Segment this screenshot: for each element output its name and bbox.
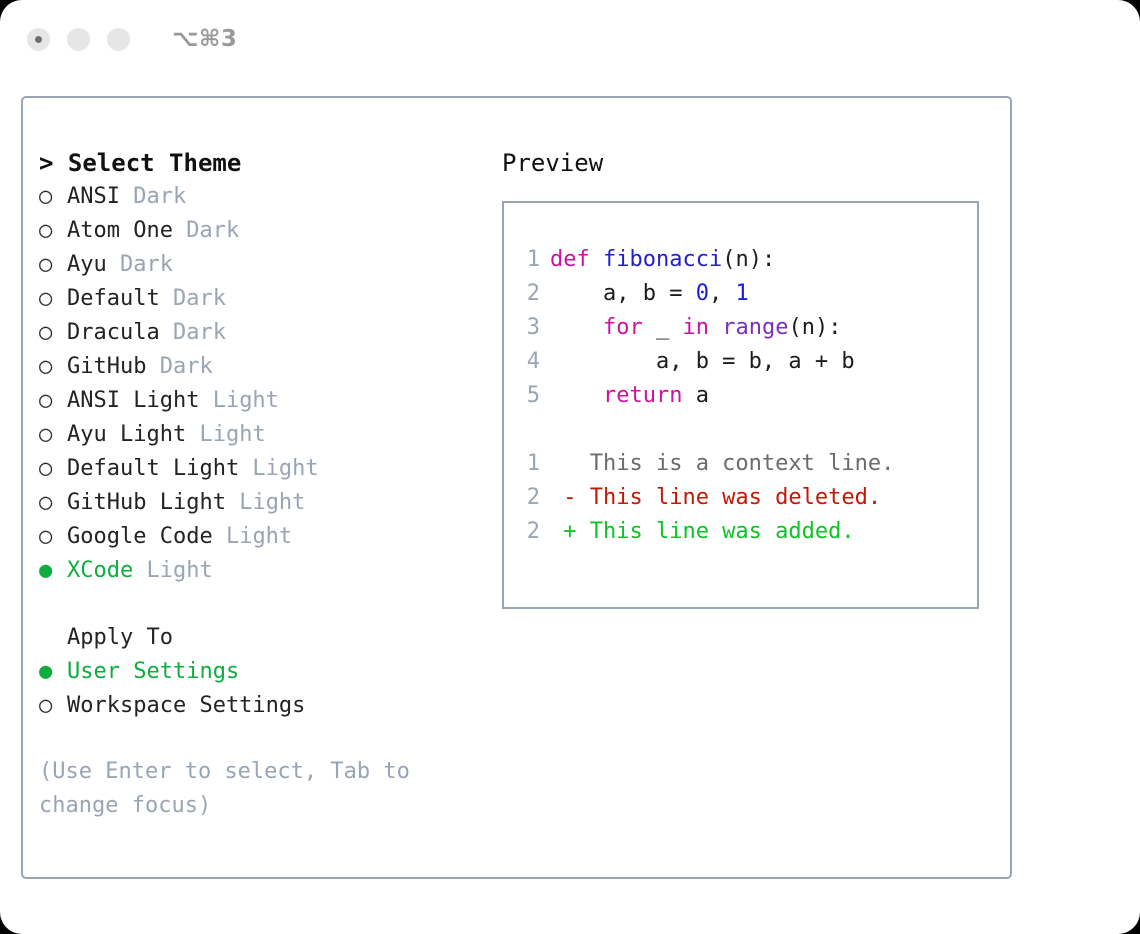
code-token-call: range: [722, 315, 788, 340]
theme-option-variant: Light: [133, 554, 212, 588]
theme-option-variant: Dark: [146, 350, 212, 384]
code-token-kw: for: [603, 315, 643, 340]
theme-option-default[interactable]: ○Default Dark: [39, 282, 469, 316]
app-window: ⌥⌘3 > Select Theme ○ANSI Dark○Atom One D…: [0, 0, 1140, 934]
theme-option-github[interactable]: ○GitHub Dark: [39, 350, 469, 384]
apply-to-option-user-settings[interactable]: ●User Settings: [39, 655, 469, 689]
code-token-plain: _: [643, 315, 683, 340]
diff-line-number: 1: [518, 447, 540, 481]
radio-unselected-icon: ○: [39, 316, 67, 350]
radio-unselected-icon: ○: [39, 689, 67, 723]
diff-line-ctx: 1 This is a context line.: [504, 447, 977, 481]
code-token-plain: a, b =: [550, 281, 696, 306]
theme-option-list: ○ANSI Dark○Atom One Dark○Ayu Dark○Defaul…: [39, 180, 469, 588]
diff-line-del: 2 - This line was deleted.: [504, 481, 977, 515]
traffic-light-second[interactable]: [67, 28, 90, 51]
code-line: 5 return a: [504, 379, 977, 413]
theme-option-atom-one[interactable]: ○Atom One Dark: [39, 214, 469, 248]
diff-line-text: This is a context line.: [550, 451, 894, 476]
apply-to-option-label: User Settings: [67, 655, 239, 689]
radio-unselected-icon: ○: [39, 180, 67, 214]
theme-option-xcode[interactable]: ●XCode Light: [39, 554, 469, 588]
diff-line-number: 2: [518, 515, 540, 549]
theme-option-variant: Light: [239, 452, 318, 486]
theme-option-ayu[interactable]: ○Ayu Dark: [39, 248, 469, 282]
radio-selected-icon: ●: [39, 554, 67, 588]
theme-option-variant: Light: [186, 418, 265, 452]
radio-unselected-icon: ○: [39, 282, 67, 316]
code-token-kw: def: [550, 247, 603, 272]
keyboard-shortcut-label: ⌥⌘3: [172, 26, 237, 52]
theme-option-label: Dracula: [67, 316, 160, 350]
preview-column: Preview 1def fibonacci(n):2 a, b = 0, 13…: [502, 146, 992, 609]
code-token-fn: fibonacci: [603, 247, 722, 272]
code-token-kw: return: [603, 383, 682, 408]
traffic-light-group: [27, 28, 130, 51]
theme-option-default-light[interactable]: ○Default Light Light: [39, 452, 469, 486]
theme-option-variant: Light: [213, 520, 292, 554]
code-line-number: 2: [518, 277, 540, 311]
radio-unselected-icon: ○: [39, 486, 67, 520]
traffic-light-active[interactable]: [27, 28, 50, 51]
diff-line-add: 2 + This line was added.: [504, 515, 977, 549]
theme-option-label: GitHub: [67, 350, 146, 384]
radio-unselected-icon: ○: [39, 248, 67, 282]
theme-option-google-code[interactable]: ○Google Code Light: [39, 520, 469, 554]
code-token-plain: (n):: [788, 315, 841, 340]
theme-option-label: Atom One: [67, 214, 173, 248]
theme-option-dracula[interactable]: ○Dracula Dark: [39, 316, 469, 350]
code-token-num: 0: [696, 281, 709, 306]
traffic-light-third[interactable]: [107, 28, 130, 51]
code-token-plain: [550, 383, 603, 408]
theme-option-variant: Dark: [160, 282, 226, 316]
theme-option-variant: Dark: [160, 316, 226, 350]
theme-option-ansi-light[interactable]: ○ANSI Light Light: [39, 384, 469, 418]
apply-to-option-workspace-settings[interactable]: ○Workspace Settings: [39, 689, 469, 723]
code-token-plain: a: [682, 383, 709, 408]
radio-unselected-icon: ○: [39, 214, 67, 248]
code-token-plain: [550, 315, 603, 340]
diff-sample-block: 1 This is a context line.2 - This line w…: [504, 447, 977, 549]
theme-option-label: Ayu Light: [67, 418, 186, 452]
code-line: 4 a, b = b, a + b: [504, 345, 977, 379]
code-token-plain: (n):: [722, 247, 775, 272]
apply-to-option-list: ●User Settings○Workspace Settings: [39, 655, 469, 723]
code-token-plain: ,: [709, 281, 736, 306]
code-sample-block: 1def fibonacci(n):2 a, b = 0, 13 for _ i…: [504, 243, 977, 413]
code-token-num: 1: [735, 281, 748, 306]
preview-heading: Preview: [502, 146, 992, 180]
theme-option-label: Ayu: [67, 248, 107, 282]
section-spacer: [39, 588, 469, 621]
theme-option-label: Google Code: [67, 520, 213, 554]
preview-spacer: [504, 413, 977, 447]
apply-to-option-label: Workspace Settings: [67, 689, 305, 723]
code-line: 3 for _ in range(n):: [504, 311, 977, 345]
code-line-number: 5: [518, 379, 540, 413]
diff-line-text: - This line was deleted.: [550, 485, 881, 510]
code-line: 1def fibonacci(n):: [504, 243, 977, 277]
radio-unselected-icon: ○: [39, 452, 67, 486]
apply-to-heading: Apply To: [39, 621, 469, 655]
code-line: 2 a, b = 0, 1: [504, 277, 977, 311]
code-token-plain: [709, 315, 722, 340]
theme-option-label: XCode: [67, 554, 133, 588]
theme-option-ansi[interactable]: ○ANSI Dark: [39, 180, 469, 214]
code-line-number: 1: [518, 243, 540, 277]
code-line-number: 3: [518, 311, 540, 345]
theme-option-variant: Dark: [107, 248, 173, 282]
main-panel: > Select Theme ○ANSI Dark○Atom One Dark○…: [21, 96, 1012, 879]
theme-option-variant: Light: [199, 384, 278, 418]
theme-option-variant: Dark: [173, 214, 239, 248]
theme-option-label: ANSI Light: [67, 384, 199, 418]
theme-option-variant: Dark: [120, 180, 186, 214]
hint-text: (Use Enter to select, Tab to change focu…: [39, 755, 439, 823]
preview-box: 1def fibonacci(n):2 a, b = 0, 13 for _ i…: [502, 201, 979, 609]
theme-selector-column: > Select Theme ○ANSI Dark○Atom One Dark○…: [39, 146, 469, 823]
theme-option-ayu-light[interactable]: ○Ayu Light Light: [39, 418, 469, 452]
radio-selected-icon: ●: [39, 655, 67, 689]
diff-line-number: 2: [518, 481, 540, 515]
code-line-number: 4: [518, 345, 540, 379]
theme-option-github-light[interactable]: ○GitHub Light Light: [39, 486, 469, 520]
radio-unselected-icon: ○: [39, 418, 67, 452]
theme-option-variant: Light: [226, 486, 305, 520]
theme-option-label: ANSI: [67, 180, 120, 214]
radio-unselected-icon: ○: [39, 384, 67, 418]
select-theme-heading: > Select Theme: [39, 146, 469, 180]
theme-option-label: Default: [67, 282, 160, 316]
radio-unselected-icon: ○: [39, 350, 67, 384]
theme-option-label: GitHub Light: [67, 486, 226, 520]
code-token-plain: a, b = b, a + b: [550, 349, 855, 374]
title-bar: ⌥⌘3: [0, 0, 1140, 78]
code-token-kw: in: [682, 315, 709, 340]
theme-option-label: Default Light: [67, 452, 239, 486]
diff-line-text: + This line was added.: [550, 519, 855, 544]
radio-unselected-icon: ○: [39, 520, 67, 554]
